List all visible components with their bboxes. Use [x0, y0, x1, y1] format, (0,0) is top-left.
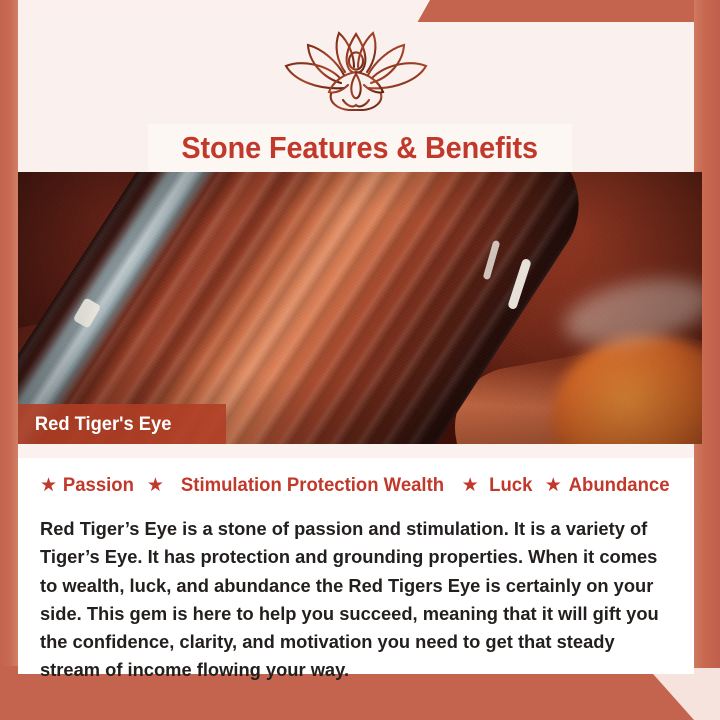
- infographic-card: BUDDHA STONES Stone Features & Benefits …: [0, 0, 720, 720]
- body-paragraph: Red Tiger’s Eye is a stone of passion an…: [40, 515, 663, 685]
- title-ribbon: Stone Features & Benefits: [148, 124, 572, 172]
- keyword-passion: Passion: [63, 474, 134, 497]
- stone-name: Red Tiger's Eye: [18, 413, 171, 436]
- star-icon: ★: [40, 474, 57, 497]
- star-icon: ★: [545, 474, 562, 497]
- left-frame-border: [0, 0, 18, 720]
- keyword-stimulation-protection-wealth: Stimulation Protection Wealth: [180, 474, 443, 497]
- stone-name-bar: Red Tiger's Eye: [18, 404, 226, 444]
- keyword-row: ★ Passion ★ Stimulation Protection Wealt…: [40, 474, 672, 497]
- panel-top-tint: [18, 444, 694, 458]
- keyword-luck: Luck: [489, 474, 532, 497]
- lotus-meditation-figure-icon: [281, 28, 431, 119]
- page-title: Stone Features & Benefits: [182, 130, 539, 166]
- star-icon: ★: [147, 474, 164, 497]
- star-icon: ★: [462, 474, 479, 497]
- keyword-abundance: Abundance: [568, 474, 669, 497]
- content-panel: ★ Passion ★ Stimulation Protection Wealt…: [18, 444, 694, 674]
